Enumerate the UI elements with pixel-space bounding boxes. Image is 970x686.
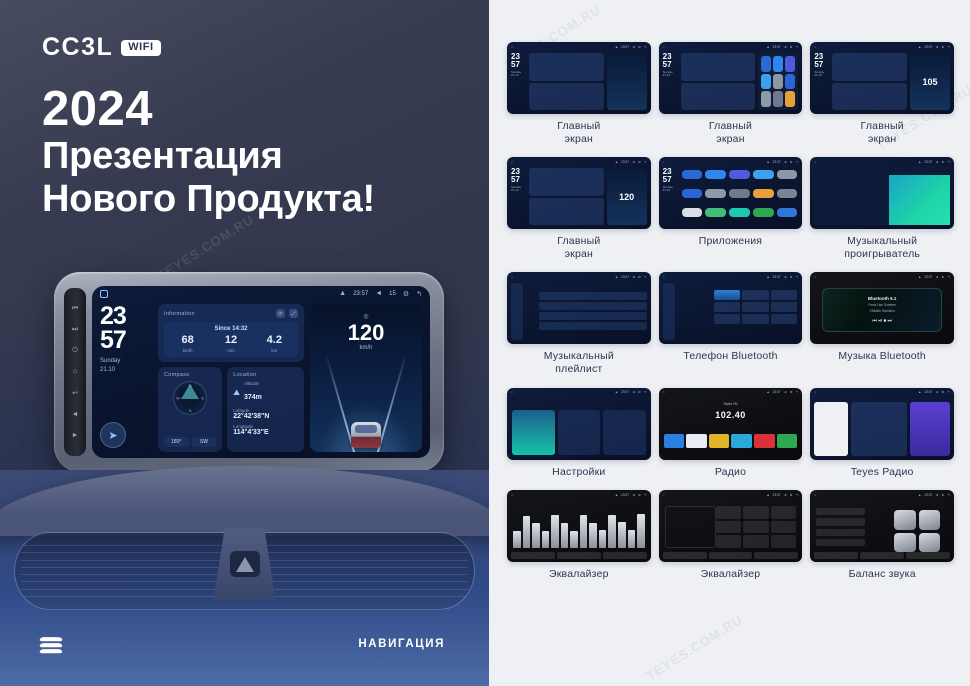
status-bar: ▲ 23:57 ◄ 15 ⚙ ↰: [92, 286, 430, 301]
thumbnail-caption: Баланс звука: [849, 568, 916, 581]
bt-title: Bluetooth 5.1: [868, 296, 897, 301]
screen-thumbnail-home-speed[interactable]: ⌂ ▲ 23:57 ◄ ⚙ ↰2357Sunday21.10 105: [810, 42, 954, 114]
wifi-icon: ▲: [339, 290, 346, 297]
bt-track: Feels Like Summer: [868, 303, 895, 307]
gallery-item[interactable]: ⌂ ▲ 23:57 ◄ ⚙ ↰2357Sunday21.10 105Главны…: [810, 42, 954, 145]
trip-stats: 68 km/h 12 min 4.2 km: [166, 335, 296, 353]
stat-value: 68: [166, 335, 209, 346]
thumbnail-caption: Настройки: [552, 466, 605, 479]
clock-hours: 23: [100, 304, 152, 328]
hardware-button-bar[interactable]: ⏮ ⏭ ⏻ ⌂ ↩ ◄ ►: [64, 288, 86, 456]
button-next-icon[interactable]: ⏭: [72, 326, 78, 333]
hazard-triangle-icon: [236, 557, 254, 572]
volume-icon: ◄: [935, 275, 938, 279]
wifi-icon: ▲: [767, 493, 770, 497]
headline-year: 2024: [42, 85, 375, 135]
car-dashboard: НАВИГАЦИЯ: [0, 470, 489, 686]
location-card[interactable]: Location ⛰ Altitude 374m Latitude: [227, 367, 304, 452]
back-arrow-icon: ↰: [947, 275, 950, 279]
gallery-item[interactable]: ⌂ ▲ 23:57 ◄ ⚙ ↰ Bluetooth 5.1 Feels Like…: [810, 272, 954, 375]
back-arrow-icon: ↰: [796, 493, 799, 497]
caption-line-1: Приложения: [699, 235, 762, 247]
volume-icon: ◄: [935, 493, 938, 497]
thumbnail-caption: Главныйэкран: [861, 120, 904, 145]
compass-title: Compass: [164, 372, 216, 378]
volume-icon: ◄: [935, 390, 938, 394]
thumb-status-bar: ⌂ ▲ 23:57 ◄ ⚙ ↰: [659, 157, 803, 166]
thumb-side-rail: [511, 283, 523, 340]
thumbnail-caption: Музыка Bluetooth: [838, 350, 926, 363]
clock-column: 23 57 Sunday 21.10 ➤: [100, 304, 152, 452]
status-time: 23:57: [353, 291, 368, 297]
home-icon: ⌂: [814, 160, 816, 164]
thumbnail-caption: Телефон Bluetooth: [683, 350, 777, 363]
thumb-time: 23:57: [924, 493, 932, 497]
thumb-clock: 2357Sunday21.10: [814, 53, 829, 110]
wifi-icon: ▲: [918, 275, 921, 279]
button-volume-up-icon[interactable]: ►: [72, 432, 79, 439]
thumb-eq-bars: [513, 506, 645, 548]
wifi-icon: ▲: [615, 275, 618, 279]
thumb-status-bar: ⌂ ▲ 23:57 ◄ ⚙ ↰: [810, 272, 954, 281]
headline-line-1: Презентация: [42, 135, 375, 178]
wifi-icon: ▲: [767, 45, 770, 49]
gear-icon: ⚙: [790, 390, 793, 394]
trip-stat: 68 km/h: [166, 335, 209, 353]
gear-icon: ⚙: [941, 275, 944, 279]
stat-unit: km: [253, 348, 296, 353]
navigation-arrow-icon[interactable]: ➤: [100, 422, 126, 448]
caption-line-1: Главный: [557, 120, 600, 132]
head-unit-screen[interactable]: ▲ 23:57 ◄ 15 ⚙ ↰ 23 57 Sunday 21.10 ➤: [92, 286, 430, 458]
screen-thumbnail-eq-sliders[interactable]: ⌂ ▲ 23:57 ◄ ⚙ ↰: [659, 490, 803, 562]
bt-artist: Childish Gambino: [870, 309, 895, 313]
caption-line-1: Настройки: [552, 466, 605, 478]
thumb-status-bar: ⌂ ▲ 23:57 ◄ ⚙ ↰: [659, 388, 803, 397]
thumbnail-caption: Главныйэкран: [557, 235, 600, 260]
thumb-waveform: [889, 175, 950, 225]
thumb-side-rail: [663, 283, 675, 340]
wifi-icon: ▲: [615, 160, 618, 164]
gear-icon: ⚙: [790, 493, 793, 497]
gallery-item[interactable]: ⌂ ▲ 23:57 ◄ ⚙ ↰ Баланс звука: [810, 490, 954, 581]
thumbnail-caption: Музыкальныйпроигрыватель: [844, 235, 920, 260]
thumb-app-panel: [758, 53, 798, 110]
thumb-time: 23:57: [773, 160, 781, 164]
radio-band: Radio FM: [659, 402, 803, 406]
watermark: TEYES.COM.RU: [643, 612, 745, 684]
information-title: Information: [164, 311, 195, 317]
back-arrow-icon: ↰: [947, 493, 950, 497]
home-icon: ⌂: [814, 275, 816, 279]
gallery-item[interactable]: ⌂ ▲ 23:57 ◄ ⚙ ↰Radio FM 102.40 Радио: [659, 388, 803, 479]
home-icon: ⌂: [663, 160, 665, 164]
trip-info-box: Since 14:32 68 km/h 12 min: [164, 322, 298, 357]
thumb-speed-panel: 105: [910, 53, 950, 110]
volume-icon: ◄: [632, 390, 635, 394]
latitude-value: 22°42'38"N: [233, 413, 298, 420]
thumb-status-bar: ⌂ ▲ 23:57 ◄ ⚙ ↰: [659, 490, 803, 499]
speed-value: 120: [348, 322, 385, 344]
caption-line-1: Радио: [715, 466, 746, 478]
compass-direction: SW: [192, 437, 217, 447]
thumb-time: 23:57: [621, 160, 629, 164]
back-arrow-icon: ↰: [796, 275, 799, 279]
speed-gauge-icon: ◎: [363, 313, 368, 320]
wifi-icon: ▲: [918, 390, 921, 394]
gear-icon: ⚙: [638, 275, 641, 279]
back-arrow-icon: ↰: [644, 390, 647, 394]
thumb-time: 23:57: [924, 390, 932, 394]
wifi-icon: ▲: [615, 390, 618, 394]
compass-e: E: [201, 396, 204, 401]
home-icon: ⌂: [663, 45, 665, 49]
thumb-balance-pad: [894, 510, 940, 552]
thumb-clock: 2357Sunday21.10: [511, 168, 526, 225]
thumb-time: 23:57: [621, 45, 629, 49]
mountain-icon: ⛰: [233, 388, 240, 398]
altitude-value: 374m: [244, 394, 262, 401]
back-arrow-icon: ↰: [947, 45, 950, 49]
button-volume-down-icon[interactable]: ◄: [72, 411, 79, 418]
wifi-icon: ▲: [615, 493, 618, 497]
home-icon: ⌂: [511, 275, 513, 279]
gear-icon: ⚙: [638, 45, 641, 49]
thumbnail-caption: Teyes Радио: [851, 466, 914, 479]
home-icon[interactable]: [100, 290, 108, 298]
gallery-item[interactable]: ⌂ ▲ 23:57 ◄ ⚙ ↰ Эквалайзер: [507, 490, 651, 581]
volume-icon: ◄: [784, 493, 787, 497]
caption-line-1: Музыкальный: [544, 350, 614, 362]
presentation-slide: TEYES.COM.RU TEYES.COM.RU TEYES.COM.RU C…: [0, 0, 970, 686]
thumb-dialpad: [714, 290, 797, 324]
gallery-item[interactable]: ⌂ ▲ 23:57 ◄ ⚙ ↰ Музыкальныйпроигрыватель: [810, 157, 954, 260]
caption-line-2: плейлист: [555, 363, 602, 375]
radio-frequency: 102.40: [659, 410, 803, 420]
volume-icon[interactable]: ◄: [375, 290, 382, 297]
volume-icon: ◄: [784, 390, 787, 394]
thumb-time: 23:57: [924, 45, 932, 49]
thumb-status-bar: ⌂ ▲ 23:57 ◄ ⚙ ↰: [810, 490, 954, 499]
button-back-icon[interactable]: ↩: [72, 390, 78, 397]
gear-icon: ⚙: [941, 493, 944, 497]
screen-thumbnail-teyes-radio[interactable]: ⌂ ▲ 23:57 ◄ ⚙ ↰: [810, 388, 954, 460]
refresh-icon[interactable]: ⟳: [276, 309, 285, 318]
gallery-item[interactable]: ⌂ ▲ 23:57 ◄ ⚙ ↰ Музыкальныйплейлист: [507, 272, 651, 375]
gear-icon: ⚙: [941, 45, 944, 49]
screen-thumbnail-player[interactable]: ⌂ ▲ 23:57 ◄ ⚙ ↰: [810, 157, 954, 229]
compass-s: S: [189, 408, 192, 413]
volume-icon: ◄: [632, 160, 635, 164]
expand-icon[interactable]: ⤢: [289, 309, 298, 318]
altitude-label: Altitude: [244, 381, 262, 386]
longitude-value: 114°4'33"E: [233, 429, 298, 436]
wifi-icon: ▲: [615, 45, 618, 49]
caption-line-1: Телефон Bluetooth: [683, 350, 777, 362]
thumbnail-caption: Главныйэкран: [709, 120, 752, 145]
thumb-player: [814, 166, 950, 225]
thumb-status-bar: ⌂ ▲ 23:57 ◄ ⚙ ↰: [507, 388, 651, 397]
volume-icon: ◄: [632, 45, 635, 49]
caption-line-1: Музыкальный: [847, 235, 917, 247]
gallery-item[interactable]: ⌂ ▲ 23:57 ◄ ⚙ ↰ Эквалайзер: [659, 490, 803, 581]
stat-unit: min: [209, 348, 252, 353]
stat-unit: km/h: [166, 348, 209, 353]
gallery-item[interactable]: ⌂ ▲ 23:57 ◄ ⚙ ↰2357Sunday21.10 Главныйэк…: [507, 42, 651, 145]
home-icon: ⌂: [511, 160, 513, 164]
location-title: Location: [233, 372, 298, 378]
home-screen: 23 57 Sunday 21.10 ➤ Information ⟳: [100, 304, 422, 452]
gallery-grid: ⌂ ▲ 23:57 ◄ ⚙ ↰2357Sunday21.10 Главныйэк…: [507, 42, 954, 581]
gallery-item[interactable]: ⌂ ▲ 23:57 ◄ ⚙ ↰2357Sunday21.10 Приложени…: [659, 157, 803, 260]
thumb-clock: 2357Sunday21.10: [663, 168, 678, 225]
home-icon: ⌂: [511, 493, 513, 497]
caption-line-1: Главный: [861, 120, 904, 132]
wifi-icon: ▲: [918, 45, 921, 49]
volume-icon: ◄: [632, 493, 635, 497]
back-arrow-icon: ↰: [796, 390, 799, 394]
back-arrow-icon: ↰: [644, 493, 647, 497]
button-power-icon[interactable]: ⏻: [72, 347, 78, 354]
screen-thumbnail-settings[interactable]: ⌂ ▲ 23:57 ◄ ⚙ ↰: [507, 388, 651, 460]
caption-line-1: Эквалайзер: [701, 568, 761, 580]
stat-value: 4.2: [253, 335, 296, 346]
back-arrow-icon: ↰: [947, 160, 950, 164]
thumbnail-caption: Приложения: [699, 235, 762, 248]
caption-line-2: экран: [565, 248, 593, 260]
caption-line-2: экран: [868, 133, 896, 145]
thumbnail-caption: Эквалайзер: [549, 568, 609, 581]
widgets-column: Information ⟳ ⤢ Since 14:32: [158, 304, 304, 452]
thumb-widgets: [529, 53, 604, 110]
layers-icon: [40, 636, 62, 654]
back-arrow-icon: ↰: [644, 275, 647, 279]
model-name: CC3L: [42, 33, 113, 62]
volume-icon: ◄: [784, 275, 787, 279]
thumb-status-bar: ⌂ ▲ 23:57 ◄ ⚙ ↰: [810, 157, 954, 166]
home-icon: ⌂: [663, 275, 665, 279]
gear-icon: ⚙: [790, 45, 793, 49]
wifi-icon: ▲: [767, 390, 770, 394]
head-unit: ⏮ ⏭ ⏻ ⌂ ↩ ◄ ► ▲ 23:57 ◄ 15 ⚙ ↰: [54, 272, 444, 472]
speed-unit: km/h: [359, 345, 372, 351]
wifi-icon: ▲: [767, 275, 770, 279]
home-icon: ⌂: [663, 390, 665, 394]
back-arrow-icon: ↰: [796, 45, 799, 49]
gear-icon: ⚙: [638, 160, 641, 164]
thumb-time: 23:57: [924, 275, 932, 279]
car-graphic: [351, 422, 381, 448]
clock-minutes: 57: [100, 328, 152, 352]
caption-line-1: Музыка Bluetooth: [838, 350, 926, 362]
screen-thumbnail-playlist[interactable]: ⌂ ▲ 23:57 ◄ ⚙ ↰: [507, 272, 651, 344]
gallery-item[interactable]: ⌂ ▲ 23:57 ◄ ⚙ ↰ Teyes Радио: [810, 388, 954, 479]
navigation-label: НАВИГАЦИЯ: [358, 638, 445, 650]
thumbnail-caption: Радио: [715, 466, 746, 479]
thumbnail-caption: Музыкальныйплейлист: [544, 350, 614, 375]
bt-controls: ⏮ ⏯ ⏹ ⏭: [872, 318, 892, 324]
home-icon: ⌂: [814, 390, 816, 394]
thumb-bt-card: Bluetooth 5.1 Feels Like Summer Childish…: [822, 288, 942, 332]
thumb-widgets: [529, 168, 604, 225]
left-hero-panel: TEYES.COM.RU TEYES.COM.RU TEYES.COM.RU C…: [0, 0, 489, 686]
caption-line-1: Teyes Радио: [851, 466, 914, 478]
compass-heading: 180°: [164, 437, 189, 447]
gallery-item[interactable]: ⌂ ▲ 23:57 ◄ ⚙ ↰ Настройки: [507, 388, 651, 479]
wifi-badge: WIFI: [121, 40, 160, 56]
screen-thumbnail-radio[interactable]: ⌂ ▲ 23:57 ◄ ⚙ ↰Radio FM 102.40: [659, 388, 803, 460]
thumb-time: 23:57: [773, 275, 781, 279]
thumb-time: 23:57: [924, 160, 932, 164]
thumb-time: 23:57: [773, 390, 781, 394]
stat-value: 12: [209, 335, 252, 346]
thumbnail-caption: Главныйэкран: [557, 120, 600, 145]
screen-thumbnail-eq-bars[interactable]: ⌂ ▲ 23:57 ◄ ⚙ ↰: [507, 490, 651, 562]
thumb-time: 23:57: [621, 275, 629, 279]
thumb-status-bar: ⌂ ▲ 23:57 ◄ ⚙ ↰: [810, 388, 954, 397]
screens-gallery-panel: TEYES.COM.RU TEYES.COM.RU TEYES.COM.RU ⌂…: [489, 0, 970, 686]
gear-icon: ⚙: [638, 493, 641, 497]
screen-thumbnail-apps[interactable]: ⌂ ▲ 23:57 ◄ ⚙ ↰2357Sunday21.10: [659, 157, 803, 229]
caption-line-1: Баланс звука: [849, 568, 916, 580]
thumb-clock: 2357Sunday21.10: [511, 53, 526, 110]
gallery-item[interactable]: ⌂ ▲ 23:57 ◄ ⚙ ↰ Телефон Bluetooth: [659, 272, 803, 375]
thumb-status-bar: ⌂ ▲ 23:57 ◄ ⚙ ↰: [659, 272, 803, 281]
thumb-status-bar: ⌂ ▲ 23:57 ◄ ⚙ ↰: [810, 42, 954, 51]
gear-icon: ⚙: [790, 160, 793, 164]
volume-icon: ◄: [935, 45, 938, 49]
gallery-item[interactable]: ⌂ ▲ 23:57 ◄ ⚙ ↰2357Sunday21.10 120Главны…: [507, 157, 651, 260]
headline-line-2: Нового Продукта!: [42, 178, 375, 221]
thumb-status-bar: ⌂ ▲ 23:57 ◄ ⚙ ↰: [507, 157, 651, 166]
status-volume: 15: [389, 291, 396, 297]
wifi-icon: ▲: [767, 160, 770, 164]
button-prev-icon[interactable]: ⏮: [72, 305, 78, 312]
clock-date: 21.10: [100, 366, 152, 374]
gear-icon[interactable]: ⚙: [403, 290, 409, 298]
home-icon: ⌂: [814, 45, 816, 49]
home-icon: ⌂: [663, 493, 665, 497]
headline: 2024 Презентация Нового Продукта!: [42, 85, 375, 220]
thumb-status-bar: ⌂ ▲ 23:57 ◄ ⚙ ↰: [507, 490, 651, 499]
volume-icon: ◄: [632, 275, 635, 279]
back-arrow-icon: ↰: [947, 390, 950, 394]
thumb-widgets: [832, 53, 907, 110]
compass-dial: N E S W: [173, 381, 207, 415]
caption-line-2: экран: [565, 133, 593, 145]
wifi-icon: ▲: [918, 493, 921, 497]
volume-icon: ◄: [935, 160, 938, 164]
screen-thumbnail-home-apps[interactable]: ⌂ ▲ 23:57 ◄ ⚙ ↰2357Sunday21.10: [659, 42, 803, 114]
home-icon: ⌂: [511, 390, 513, 394]
thumb-playlist-rows: [539, 292, 647, 330]
speed-widget[interactable]: ◎ 120 km/h: [310, 304, 422, 452]
thumb-clock: 2357Sunday21.10: [663, 53, 678, 110]
back-arrow-icon: ↰: [644, 160, 647, 164]
button-home-icon[interactable]: ⌂: [73, 368, 77, 375]
caption-line-2: проигрыватель: [844, 248, 920, 260]
trip-stat: 4.2 km: [253, 335, 296, 353]
thumb-app-grid: [681, 168, 799, 225]
thumb-setting-tiles: [512, 410, 646, 455]
compass-card[interactable]: Compass N E S W 180° S: [158, 367, 222, 452]
caption-line-1: Главный: [709, 120, 752, 132]
clock-day: Sunday: [100, 357, 152, 365]
home-icon: ⌂: [814, 493, 816, 497]
trip-stat: 12 min: [209, 335, 252, 353]
screen-thumbnail-home-media[interactable]: ⌂ ▲ 23:57 ◄ ⚙ ↰2357Sunday21.10: [507, 42, 651, 114]
thumb-status-bar: ⌂ ▲ 23:57 ◄ ⚙ ↰: [507, 272, 651, 281]
caption-line-2: экран: [716, 133, 744, 145]
gear-icon: ⚙: [941, 160, 944, 164]
compass-n: N: [189, 383, 192, 388]
gear-icon: ⚙: [941, 390, 944, 394]
thumb-time: 23:57: [621, 390, 629, 394]
thumb-speed-panel: 120: [607, 168, 647, 225]
thumb-time: 23:57: [773, 45, 781, 49]
thumb-time: 23:57: [773, 493, 781, 497]
back-arrow-icon: ↰: [644, 45, 647, 49]
volume-icon: ◄: [784, 160, 787, 164]
gear-icon: ⚙: [638, 390, 641, 394]
home-icon: ⌂: [511, 45, 513, 49]
screen-thumbnail-dialer[interactable]: ⌂ ▲ 23:57 ◄ ⚙ ↰: [659, 272, 803, 344]
thumb-status-bar: ⌂ ▲ 23:57 ◄ ⚙ ↰: [507, 42, 651, 51]
screen-thumbnail-home-road[interactable]: ⌂ ▲ 23:57 ◄ ⚙ ↰2357Sunday21.10 120: [507, 157, 651, 229]
gallery-item[interactable]: ⌂ ▲ 23:57 ◄ ⚙ ↰2357Sunday21.10 Главныйэк…: [659, 42, 803, 145]
thumb-status-bar: ⌂ ▲ 23:57 ◄ ⚙ ↰: [659, 42, 803, 51]
dashboard-hood: [0, 466, 489, 536]
information-card[interactable]: Information ⟳ ⤢ Since 14:32: [158, 304, 304, 362]
back-arrow-icon[interactable]: ↰: [416, 290, 422, 298]
screen-thumbnail-balance[interactable]: ⌂ ▲ 23:57 ◄ ⚙ ↰: [810, 490, 954, 562]
screen-thumbnail-bt-music[interactable]: ⌂ ▲ 23:57 ◄ ⚙ ↰ Bluetooth 5.1 Feels Like…: [810, 272, 954, 344]
trip-since-label: Since 14:32: [166, 326, 296, 332]
thumbnail-caption: Эквалайзер: [701, 568, 761, 581]
radio-presets: [664, 434, 798, 448]
thumb-time: 23:57: [621, 493, 629, 497]
back-arrow-icon: ↰: [796, 160, 799, 164]
volume-icon: ◄: [784, 45, 787, 49]
thumb-media-panel: [607, 53, 647, 110]
caption-line-1: Эквалайзер: [549, 568, 609, 580]
caption-line-1: Главный: [557, 235, 600, 247]
product-logo: CC3L WIFI: [42, 33, 161, 62]
gear-icon: ⚙: [790, 275, 793, 279]
hazard-button[interactable]: [230, 551, 260, 577]
wifi-icon: ▲: [918, 160, 921, 164]
thumb-widgets: [681, 53, 756, 110]
compass-w: W: [176, 396, 180, 401]
